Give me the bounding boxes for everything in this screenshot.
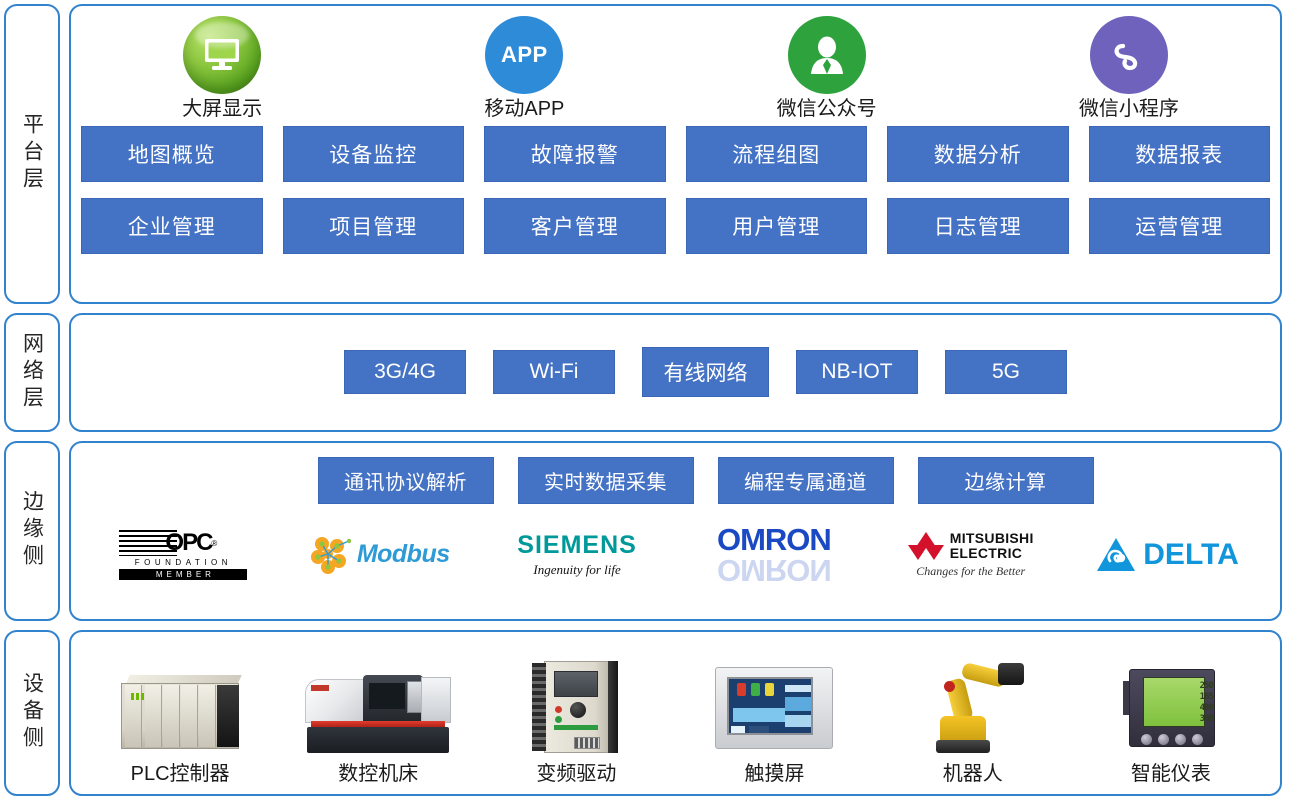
tile-user-management[interactable]: 用户管理 <box>686 198 868 254</box>
opc-foundation-text: FOUNDATION <box>135 558 232 567</box>
network-item-nb-iot[interactable]: NB-IOT <box>796 350 918 394</box>
device-label: 变频驱动 <box>486 757 666 786</box>
wechat-official-account-icon <box>788 16 866 94</box>
channel-label: 大屏显示 <box>117 98 327 120</box>
network-layer-tag-label: 网络层 <box>22 332 43 413</box>
mitsubishi-tagline: Changes for the Better <box>916 564 1025 579</box>
channel-label: 微信公众号 <box>722 98 932 120</box>
network-layer-tag: 网络层 <box>4 313 60 432</box>
device-layer-tag: 设备侧 <box>4 630 60 796</box>
omron-logo: OMRON OMRON <box>686 519 861 591</box>
meter-reading-4: 368 <box>1200 714 1213 724</box>
opc-member-text: MEMBER <box>119 569 247 580</box>
app-icon-glyph: APP <box>501 42 548 68</box>
smart-meter-image: 250 165 480 368 <box>1081 657 1261 753</box>
tile-process-diagram[interactable]: 流程组图 <box>686 126 868 182</box>
network-layer: 网络层 3G/4G Wi-Fi 有线网络 NB-IOT 5G <box>4 313 1282 432</box>
network-item-wifi[interactable]: Wi-Fi <box>493 350 615 394</box>
network-items: 3G/4G Wi-Fi 有线网络 NB-IOT 5G <box>71 315 1280 430</box>
meter-reading-1: 250 <box>1200 681 1213 691</box>
platform-layer: 平台层 大屏显示 APP <box>4 4 1282 304</box>
device-plc-controller[interactable]: PLC控制器 <box>90 657 270 786</box>
device-label: 数控机床 <box>288 757 468 786</box>
channel-wechat-official[interactable]: 微信公众号 <box>722 16 932 120</box>
device-list: PLC控制器 <box>71 632 1280 794</box>
tile-data-analysis[interactable]: 数据分析 <box>887 126 1069 182</box>
platform-tile-row-2: 企业管理 项目管理 客户管理 用户管理 日志管理 运营管理 <box>81 198 1270 254</box>
device-smart-meter[interactable]: 250 165 480 368 智能仪表 <box>1081 657 1261 786</box>
industrial-robot-image <box>883 657 1063 753</box>
device-label: 智能仪表 <box>1081 757 1261 786</box>
channel-label: 微信小程序 <box>1024 98 1234 120</box>
delta-logo-word: DELTA <box>1143 538 1239 572</box>
device-vfd-drive[interactable]: 变频驱动 <box>486 657 666 786</box>
delta-triangle-icon <box>1096 537 1136 572</box>
edge-layer-tag-label: 边缘侧 <box>22 490 43 571</box>
channel-mobile-app[interactable]: APP 移动APP <box>419 16 629 120</box>
channel-big-screen[interactable]: 大屏显示 <box>117 16 327 120</box>
monitor-screen-icon <box>183 16 261 94</box>
network-item-3g-4g[interactable]: 3G/4G <box>344 350 466 394</box>
platform-channels: 大屏显示 APP 移动APP <box>71 6 1280 120</box>
omron-logo-reflection: OMRON <box>717 552 831 588</box>
opc-foundation-logo: OPC ® FOUNDATION MEMBER <box>96 519 271 591</box>
mitsubishi-electric-logo: MITSUBISHI ELECTRIC Changes for the Bett… <box>883 519 1058 591</box>
wechat-mini-program-icon <box>1090 16 1168 94</box>
mitsubishi-word-1: MITSUBISHI <box>950 531 1034 546</box>
network-layer-body: 3G/4G Wi-Fi 有线网络 NB-IOT 5G <box>69 313 1282 432</box>
edge-capabilities: 通讯协议解析 实时数据采集 编程专属通道 边缘计算 <box>131 443 1280 504</box>
opc-logo-word: OPC <box>165 529 211 557</box>
tile-map-overview[interactable]: 地图概览 <box>81 126 263 182</box>
app-icon: APP <box>485 16 563 94</box>
registered-mark-icon: ® <box>211 539 217 548</box>
mitsubishi-three-diamonds-icon <box>908 530 944 562</box>
tile-operation-management[interactable]: 运营管理 <box>1089 198 1271 254</box>
edge-capability-realtime-acquisition[interactable]: 实时数据采集 <box>518 457 694 504</box>
platform-layer-body: 大屏显示 APP 移动APP <box>69 4 1282 304</box>
channel-label: 移动APP <box>419 98 629 120</box>
modbus-node-graphic-icon <box>311 535 355 575</box>
plc-controller-image <box>90 657 270 753</box>
channel-wechat-mini-program[interactable]: 微信小程序 <box>1024 16 1234 120</box>
tile-project-management[interactable]: 项目管理 <box>283 198 465 254</box>
device-hmi-touch-panel[interactable]: 触摸屏 <box>685 657 865 786</box>
tile-customer-management[interactable]: 客户管理 <box>484 198 666 254</box>
device-label: 触摸屏 <box>685 757 865 786</box>
edge-capability-protocol-parsing[interactable]: 通讯协议解析 <box>318 457 494 504</box>
tile-device-monitor[interactable]: 设备监控 <box>283 126 465 182</box>
delta-logo: DELTA <box>1080 519 1255 591</box>
device-layer-body: PLC控制器 <box>69 630 1282 796</box>
siemens-logo-word: SIEMENS <box>517 531 637 560</box>
edge-layer-tag: 边缘侧 <box>4 441 60 621</box>
tile-fault-alarm[interactable]: 故障报警 <box>484 126 666 182</box>
device-layer: 设备侧 <box>4 630 1282 796</box>
siemens-tagline: Ingenuity for life <box>517 562 637 578</box>
meter-reading-3: 480 <box>1200 703 1213 713</box>
siemens-logo: SIEMENS Ingenuity for life <box>490 519 665 591</box>
tile-enterprise-management[interactable]: 企业管理 <box>81 198 263 254</box>
network-item-wired[interactable]: 有线网络 <box>642 347 769 397</box>
edge-capability-edge-computing[interactable]: 边缘计算 <box>918 457 1094 504</box>
platform-tile-grid: 地图概览 设备监控 故障报警 流程组图 数据分析 数据报表 企业管理 项目管理 … <box>71 120 1280 254</box>
platform-layer-tag-label: 平台层 <box>22 113 43 194</box>
meter-reading-2: 165 <box>1200 692 1213 702</box>
tile-data-report[interactable]: 数据报表 <box>1089 126 1271 182</box>
edge-vendor-logos: OPC ® FOUNDATION MEMBER <box>71 504 1280 596</box>
edge-layer: 边缘侧 通讯协议解析 实时数据采集 编程专属通道 边缘计算 OPC ® <box>4 441 1282 621</box>
network-item-5g[interactable]: 5G <box>945 350 1067 394</box>
architecture-diagram: 平台层 大屏显示 APP <box>0 0 1290 800</box>
device-label: PLC控制器 <box>90 757 270 786</box>
device-industrial-robot[interactable]: 机器人 <box>883 657 1063 786</box>
tile-log-management[interactable]: 日志管理 <box>887 198 1069 254</box>
device-label: 机器人 <box>883 757 1063 786</box>
hmi-touch-panel-image <box>685 657 865 753</box>
device-cnc-machine[interactable]: 数控机床 <box>288 657 468 786</box>
device-layer-tag-label: 设备侧 <box>22 672 43 753</box>
edge-capability-programming-channel[interactable]: 编程专属通道 <box>718 457 894 504</box>
edge-layer-body: 通讯协议解析 实时数据采集 编程专属通道 边缘计算 OPC ® FOUNDATI… <box>69 441 1282 621</box>
mitsubishi-word-2: ELECTRIC <box>950 546 1034 561</box>
cnc-machine-image <box>288 657 468 753</box>
platform-tile-row-1: 地图概览 设备监控 故障报警 流程组图 数据分析 数据报表 <box>81 126 1270 182</box>
platform-layer-tag: 平台层 <box>4 4 60 304</box>
modbus-logo-word: Modbus <box>357 540 450 569</box>
modbus-logo: Modbus <box>293 519 468 591</box>
vfd-drive-image <box>486 657 666 753</box>
